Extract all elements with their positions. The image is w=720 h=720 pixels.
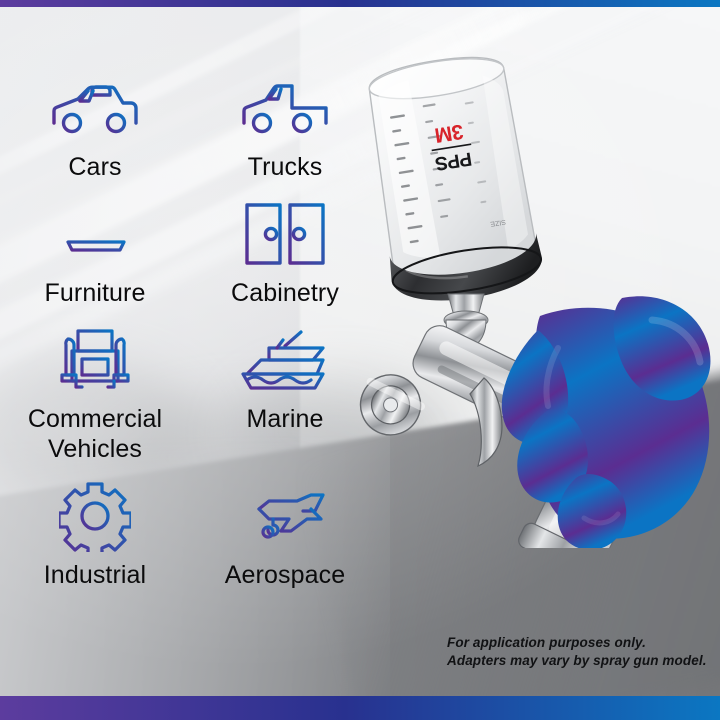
- market-item-commercial-vehicles[interactable]: Commercial Vehicles: [0, 324, 190, 464]
- spray-gun-photo: PPS 3M SIZE: [352, 48, 720, 548]
- footnote-line-1: For application purposes only.: [447, 634, 707, 652]
- chair-icon: [47, 198, 143, 270]
- market-item-cars[interactable]: Cars: [0, 72, 190, 182]
- pps-cup: PPS 3M SIZE: [363, 50, 539, 286]
- gloved-hand: [502, 296, 711, 548]
- market-label-commercial-vehicles: Commercial Vehicles: [10, 404, 180, 464]
- car-icon: [47, 72, 143, 144]
- market-label-trucks: Trucks: [248, 152, 323, 182]
- footnote-line-2: Adapters may vary by spray gun model.: [447, 652, 707, 670]
- promo-graphic: PPS 3M SIZE: [0, 0, 720, 720]
- footnote: For application purposes only. Adapters …: [447, 634, 707, 670]
- market-label-industrial: Industrial: [44, 560, 146, 590]
- market-item-industrial[interactable]: Industrial: [0, 480, 190, 590]
- market-label-cars: Cars: [68, 152, 121, 182]
- market-label-aerospace: Aerospace: [225, 560, 345, 590]
- market-item-cabinetry[interactable]: Cabinetry: [190, 198, 380, 308]
- semi-truck-icon: [47, 324, 143, 396]
- airplane-icon: [237, 480, 333, 552]
- market-item-furniture[interactable]: Furniture: [0, 198, 190, 308]
- market-label-marine: Marine: [246, 404, 323, 434]
- market-item-trucks[interactable]: Trucks: [190, 72, 380, 182]
- markets-grid: Cars Trucks: [0, 72, 380, 590]
- boat-icon: [237, 324, 333, 396]
- bottom-brand-bar: [0, 696, 720, 720]
- cabinet-doors-icon: [237, 198, 333, 270]
- market-item-marine[interactable]: Marine: [190, 324, 380, 464]
- market-label-furniture: Furniture: [45, 278, 146, 308]
- cup-brand-label: 3M: [433, 119, 464, 146]
- pickup-truck-icon: [237, 72, 333, 144]
- top-brand-bar: [0, 0, 720, 7]
- market-label-cabinetry: Cabinetry: [231, 278, 339, 308]
- gear-icon: [47, 480, 143, 552]
- market-item-aerospace[interactable]: Aerospace: [190, 480, 380, 590]
